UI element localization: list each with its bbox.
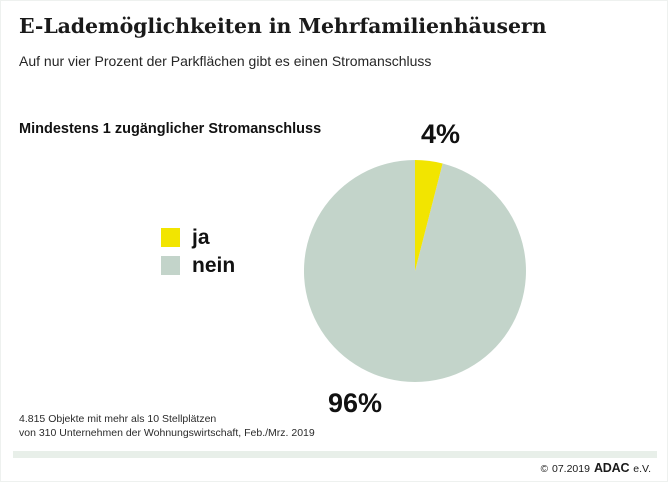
pie-label-ja: 4%	[421, 119, 460, 149]
chart-heading: Mindestens 1 zugänglicher Stromanschluss	[19, 119, 321, 139]
chart-legend: ja nein	[161, 223, 235, 279]
footnote: 4.815 Objekte mit mehr als 10 Stellplätz…	[19, 413, 315, 440]
legend-swatch-nein	[161, 256, 180, 275]
pie-slice-nein	[304, 160, 526, 382]
adac-logo-suffix: e.V.	[633, 463, 651, 476]
legend-label-nein: nein	[192, 255, 235, 276]
footnote-line-2: von 310 Unternehmen der Wohnungswirtscha…	[19, 427, 315, 441]
pie-chart-svg	[304, 160, 526, 382]
pie-chart	[304, 160, 526, 382]
pie-label-nein: 96%	[328, 388, 382, 418]
adac-logo: ADAC	[594, 462, 629, 475]
legend-label-ja: ja	[192, 227, 210, 248]
infographic-canvas: E-Lademöglichkeiten in Mehrfamilienhäuse…	[0, 0, 668, 482]
page-subtitle: Auf nur vier Prozent der Parkflächen gib…	[19, 52, 639, 71]
footer-credit: © 07.2019 ADAC e.V.	[541, 462, 651, 476]
legend-item-nein[interactable]: nein	[161, 251, 235, 279]
legend-item-ja[interactable]: ja	[161, 223, 235, 251]
footer-divider	[13, 451, 657, 458]
footnote-line-1: 4.815 Objekte mit mehr als 10 Stellplätz…	[19, 413, 315, 427]
page-title: E-Lademöglichkeiten in Mehrfamilienhäuse…	[19, 13, 639, 39]
copyright-date: 07.2019	[552, 463, 590, 476]
legend-swatch-ja	[161, 228, 180, 247]
copyright-icon: ©	[541, 463, 548, 476]
